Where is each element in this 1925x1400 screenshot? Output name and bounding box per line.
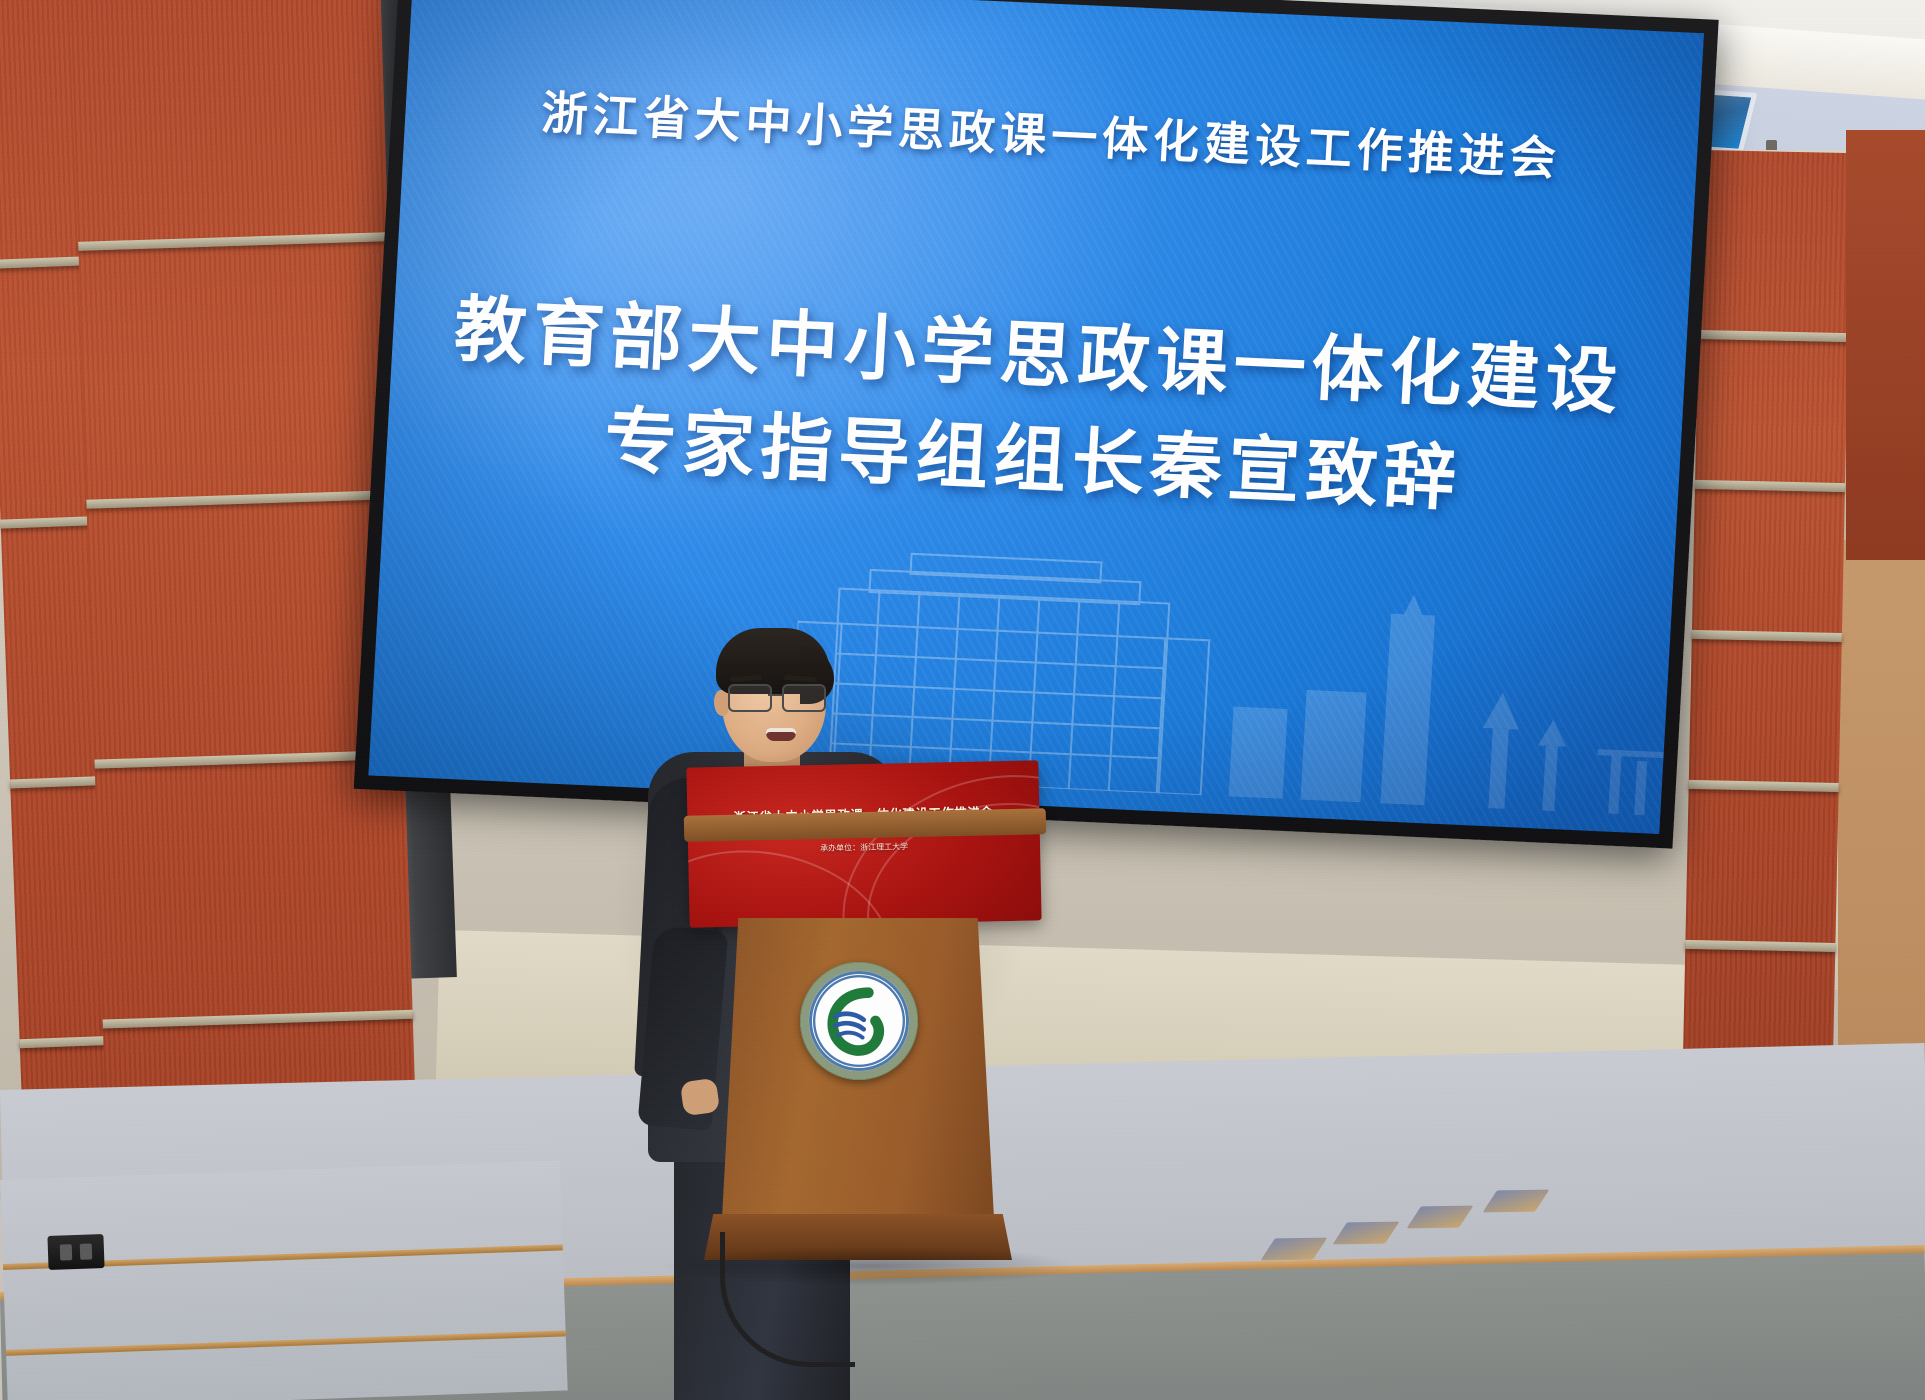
speaker-mouth [766, 728, 796, 741]
podium: 浙江省大中小学思政课一体化建设工作推进会 主办单位：中共浙江省委教育工作委员会 … [700, 822, 1030, 1362]
glasses-icon [726, 684, 830, 710]
university-emblem [800, 962, 918, 1080]
right-wood-wall [1681, 150, 1852, 1163]
conference-hall-photo: 浙江省大中小学思政课一体化建设工作推进会 教育部大中小学思政课一体化建设 专家指… [0, 0, 1925, 1400]
stage-steps [0, 1160, 568, 1400]
wall-panel-tan-right [1838, 540, 1925, 1100]
podium-banner: 浙江省大中小学思政课一体化建设工作推进会 主办单位：中共浙江省委教育工作委员会 … [686, 760, 1041, 927]
led-screen: 浙江省大中小学思政课一体化建设工作推进会 教育部大中小学思政课一体化建设 专家指… [354, 0, 1719, 849]
right-wood-wall-outer [1846, 130, 1925, 560]
podium-cable [720, 1232, 855, 1367]
floor-power-socket[interactable] [47, 1234, 104, 1270]
screen-surface: 浙江省大中小学思政课一体化建设工作推进会 教育部大中小学思政课一体化建设 专家指… [368, 0, 1704, 834]
